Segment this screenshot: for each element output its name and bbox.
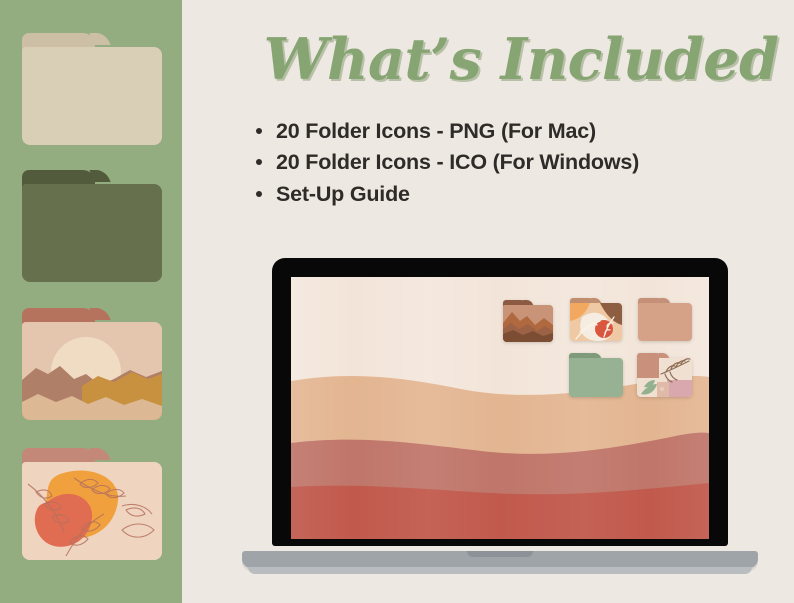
list-item: 20 Folder Icons - PNG (For Mac) xyxy=(254,116,639,147)
sidebar-folder-floral-leaves[interactable] xyxy=(22,448,162,560)
desktop-icon-abstract-floral-folder[interactable] xyxy=(570,298,622,341)
list-item: Set-Up Guide xyxy=(254,179,639,210)
folder-body xyxy=(22,462,162,560)
folder-body xyxy=(637,358,692,397)
folder-body xyxy=(22,47,162,145)
abstract-floral-artwork xyxy=(570,303,622,341)
laptop-foot xyxy=(248,567,752,574)
list-item: 20 Folder Icons - ICO (For Windows) xyxy=(254,147,639,178)
page-root: What’s Included 20 Folder Icons - PNG (F… xyxy=(0,0,794,603)
folder-body xyxy=(503,305,553,342)
laptop-mockup xyxy=(242,258,758,578)
sidebar-folder-plain-beige[interactable] xyxy=(22,33,162,145)
folder-body xyxy=(570,303,622,341)
botanical-artwork xyxy=(637,358,692,397)
folder-body xyxy=(22,322,162,420)
desktop-icon-plain-tan-folder[interactable] xyxy=(638,298,692,341)
desktop-icon-mountain-folder[interactable] xyxy=(503,300,553,342)
floral-artwork xyxy=(22,462,162,560)
page-title: What’s Included xyxy=(256,30,786,90)
laptop-lid xyxy=(272,258,728,546)
folder-body xyxy=(22,184,162,282)
sidebar-folder-plain-olive[interactable] xyxy=(22,170,162,282)
laptop-screen[interactable] xyxy=(291,277,709,539)
sunset-artwork xyxy=(22,322,162,420)
desktop-icon-botanical-folder[interactable] xyxy=(637,353,692,397)
main-content: What’s Included 20 Folder Icons - PNG (F… xyxy=(182,0,794,603)
mountain-artwork xyxy=(503,305,553,342)
folder-body xyxy=(638,303,692,341)
sidebar-folder-showcase xyxy=(0,0,182,603)
desktop-icon-plain-sage-folder[interactable] xyxy=(569,353,623,397)
laptop-base xyxy=(242,551,758,568)
sidebar-folder-sunset-mountain[interactable] xyxy=(22,308,162,420)
folder-body xyxy=(569,358,623,397)
included-list: 20 Folder Icons - PNG (For Mac) 20 Folde… xyxy=(254,116,639,210)
